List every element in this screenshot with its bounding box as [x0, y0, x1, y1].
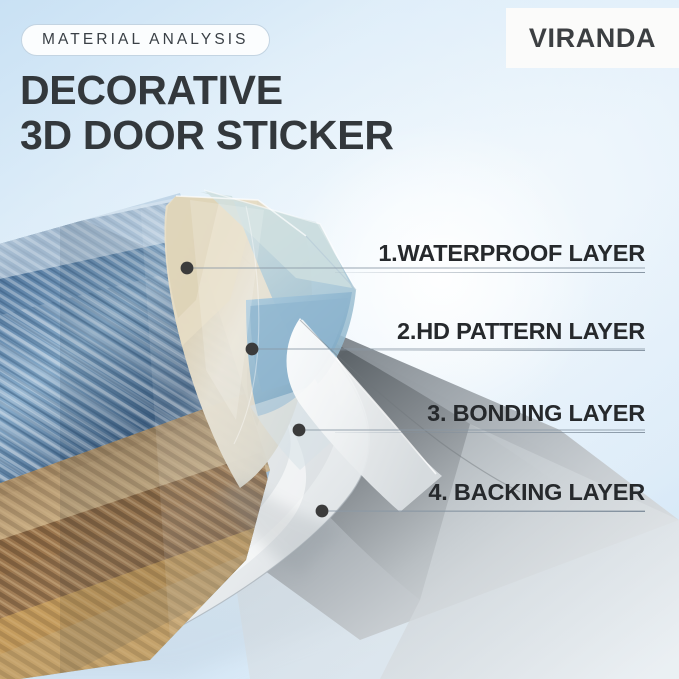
material-analysis-badge: MATERIAL ANALYSIS	[21, 24, 270, 56]
page-title-line-1: DECORATIVE	[20, 67, 283, 113]
callout-layer-3: 3. BONDING LAYER	[335, 402, 645, 433]
callout-layer-2: 2.HD PATTERN LAYER	[335, 320, 645, 351]
callout-underline-2	[335, 350, 645, 351]
marker-dot-2	[246, 343, 259, 356]
callout-underline-4	[335, 511, 645, 512]
infographic-canvas: MATERIAL ANALYSIS DECORATIVE 3D DOOR STI…	[0, 0, 679, 679]
page-title-line-2: 3D DOOR STICKER	[20, 113, 490, 158]
callout-layer-4: 4. BACKING LAYER	[335, 481, 645, 512]
callout-label-2: 2.HD PATTERN LAYER	[335, 320, 645, 344]
badge-label: MATERIAL ANALYSIS	[42, 31, 249, 49]
brand-logo: VIRANDA	[506, 8, 679, 68]
callout-underline-3	[335, 432, 645, 433]
callout-label-4: 4. BACKING LAYER	[335, 481, 645, 505]
callout-layer-1: 1.WATERPROOF LAYER	[335, 242, 645, 273]
brand-name: VIRANDA	[529, 23, 656, 54]
callout-label-1: 1.WATERPROOF LAYER	[335, 242, 645, 266]
callout-underline-1	[335, 272, 645, 273]
marker-dot-4	[316, 505, 329, 518]
marker-dot-3	[293, 424, 306, 437]
callout-label-3: 3. BONDING LAYER	[335, 402, 645, 426]
marker-dot-1	[181, 262, 194, 275]
page-title: DECORATIVE 3D DOOR STICKER	[20, 68, 490, 158]
